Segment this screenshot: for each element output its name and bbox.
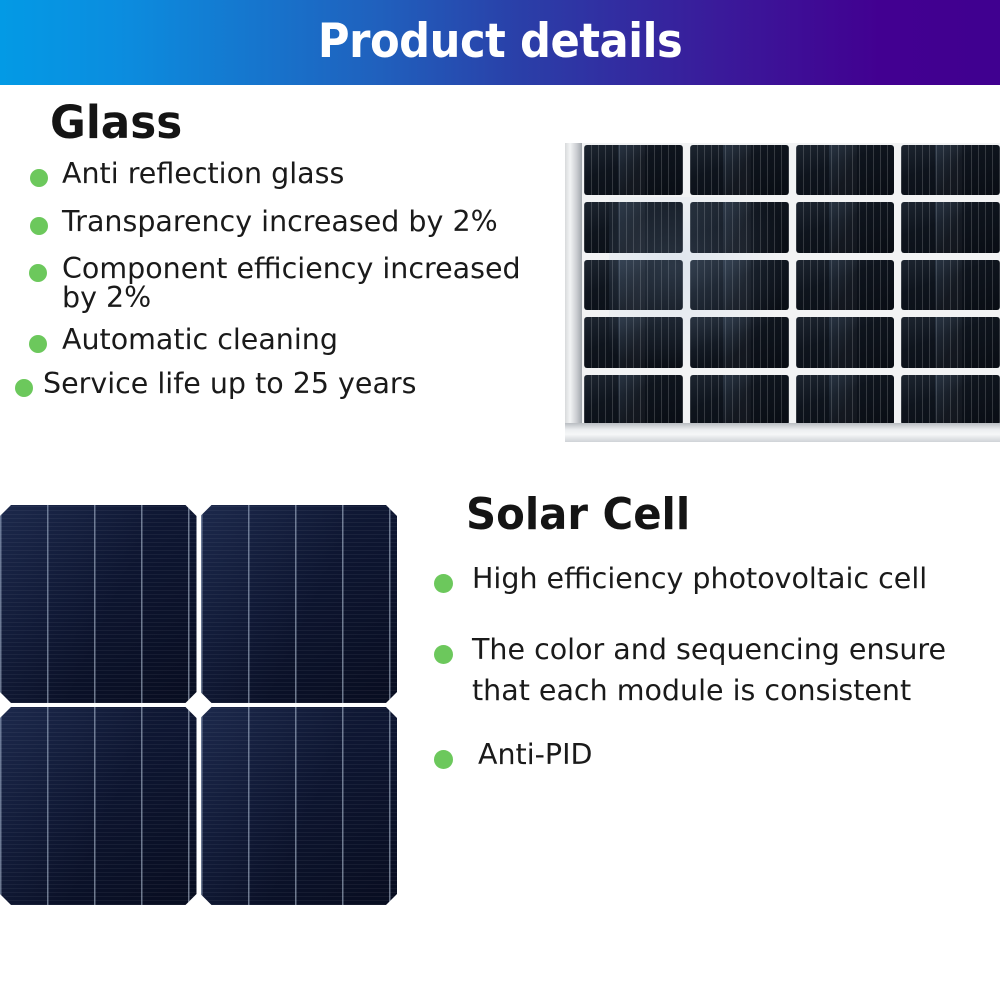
- solar-panel-photo: [565, 143, 1000, 442]
- panel-cell: [690, 260, 789, 310]
- panel-cell: [796, 317, 895, 367]
- solar-cell-feature-list: High efficiency photovoltaic cell The co…: [428, 565, 988, 811]
- list-item-label: Transparency increased by 2%: [0, 208, 560, 237]
- list-item-label: Service life up to 25 years: [0, 370, 560, 399]
- list-item: Anti-PID: [428, 741, 988, 770]
- panel-cell: [901, 375, 1000, 425]
- list-item-label: Anti reflection glass: [0, 160, 560, 189]
- list-item: High efficiency photovoltaic cell: [428, 565, 988, 594]
- panel-cell: [584, 145, 683, 195]
- bullet-dot-icon: [15, 379, 33, 397]
- panel-cell: [796, 260, 895, 310]
- bullet-dot-icon: [30, 169, 48, 187]
- panel-cell: [584, 317, 683, 367]
- list-item: The color and sequencing ensure that eac…: [428, 636, 988, 706]
- list-item-label: Automatic cleaning: [0, 326, 560, 355]
- list-item: Component efficiency increased by 2%: [0, 255, 560, 312]
- glass-feature-list: Anti reflection glass Transparency incre…: [0, 160, 560, 417]
- panel-cell: [796, 375, 895, 425]
- bullet-dot-icon: [29, 335, 47, 353]
- panel-cell: [584, 260, 683, 310]
- bullet-dot-icon: [29, 264, 47, 282]
- list-item: Anti reflection glass: [0, 160, 560, 189]
- list-item: Transparency increased by 2%: [0, 208, 560, 237]
- list-item-label-wrap: that each module is consistent: [428, 677, 988, 706]
- panel-cell: [901, 202, 1000, 252]
- list-item-label: Anti-PID: [428, 741, 988, 770]
- panel-cell: [690, 145, 789, 195]
- panel-cell: [796, 145, 895, 195]
- list-item-label: High efficiency photovoltaic cell: [428, 565, 988, 594]
- section-heading-glass: Glass: [50, 100, 182, 145]
- header-banner: Product details: [0, 0, 1000, 85]
- panel-cell: [796, 202, 895, 252]
- page-title: Product details: [318, 18, 682, 67]
- panel-cell: [584, 375, 683, 425]
- list-item: Automatic cleaning: [0, 326, 560, 355]
- mono-cell: [201, 707, 398, 905]
- panel-cell: [584, 202, 683, 252]
- panel-frame-bottom-rail: [565, 423, 1000, 442]
- bullet-dot-icon: [434, 574, 453, 593]
- mono-cell: [0, 707, 197, 905]
- panel-cell: [901, 145, 1000, 195]
- bullet-dot-icon: [30, 217, 48, 235]
- list-item-label: The color and sequencing ensure: [428, 636, 988, 665]
- solar-cells-photo: [0, 505, 397, 905]
- bullet-dot-icon: [434, 645, 453, 664]
- panel-cell: [690, 375, 789, 425]
- solar-panel-cell-grid: [582, 143, 1000, 425]
- mono-cell: [0, 505, 197, 703]
- panel-cell: [690, 317, 789, 367]
- section-heading-solar-cell: Solar Cell: [466, 493, 690, 537]
- list-item-label: Component efficiency increased: [0, 255, 560, 284]
- panel-cell: [690, 202, 789, 252]
- list-item: Service life up to 25 years: [0, 370, 560, 399]
- panel-cell: [901, 317, 1000, 367]
- bullet-dot-icon: [434, 750, 453, 769]
- list-item-label-wrap: by 2%: [0, 284, 560, 313]
- panel-frame-left-rail: [565, 143, 582, 442]
- panel-cell: [901, 260, 1000, 310]
- mono-cell: [201, 505, 398, 703]
